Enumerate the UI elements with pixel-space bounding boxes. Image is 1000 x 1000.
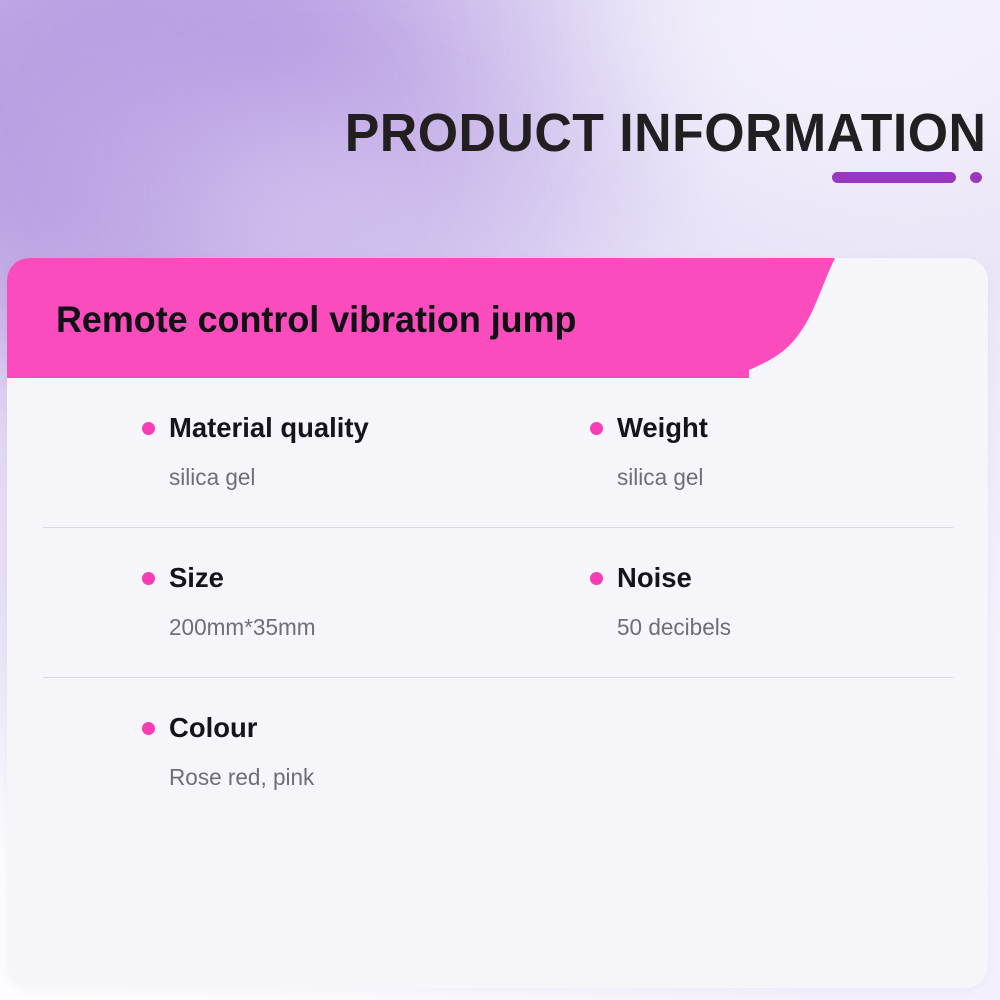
spec-item-weight: Weight silica gel: [498, 378, 953, 527]
bullet-dot-icon: [142, 722, 155, 735]
spec-label: Material quality: [169, 412, 369, 444]
spec-value: silica gel: [617, 464, 946, 491]
spec-row: Colour Rose red, pink: [7, 677, 988, 827]
spec-label: Colour: [169, 712, 257, 744]
bullet-dot-icon: [590, 422, 603, 435]
bullet-dot-icon: [142, 422, 155, 435]
spec-value: Rose red, pink: [169, 764, 491, 791]
spec-list: Material quality silica gel Weight silic…: [7, 378, 988, 827]
spec-value: silica gel: [169, 464, 491, 491]
spec-item-noise: Noise 50 decibels: [498, 528, 953, 677]
spec-item-empty: [498, 678, 953, 827]
title-underline: [832, 172, 982, 183]
spec-value: 50 decibels: [617, 614, 946, 641]
spec-label: Size: [169, 562, 224, 594]
spec-row: Size 200mm*35mm Noise 50 decibels: [7, 527, 988, 677]
background-blob-purple-topleft: [0, 0, 320, 300]
underline-bar-icon: [832, 172, 956, 183]
product-information-page: PRODUCT INFORMATION Remote control vibra…: [0, 0, 1000, 1000]
spec-row: Material quality silica gel Weight silic…: [7, 378, 988, 527]
page-title: PRODUCT INFORMATION: [344, 104, 986, 162]
card-banner-title: Remote control vibration jump: [56, 298, 576, 342]
spec-label: Noise: [617, 562, 692, 594]
spec-item-material-quality: Material quality silica gel: [43, 378, 498, 527]
spec-item-size: Size 200mm*35mm: [43, 528, 498, 677]
background-blob-white-topright: [620, 0, 1000, 200]
product-spec-card: Remote control vibration jump Material q…: [7, 258, 988, 988]
spec-item-colour: Colour Rose red, pink: [43, 678, 498, 827]
page-title-block: PRODUCT INFORMATION: [318, 104, 986, 162]
underline-dot-icon: [970, 172, 982, 183]
bullet-dot-icon: [142, 572, 155, 585]
spec-label: Weight: [617, 412, 708, 444]
bullet-dot-icon: [590, 572, 603, 585]
spec-value: 200mm*35mm: [169, 614, 491, 641]
